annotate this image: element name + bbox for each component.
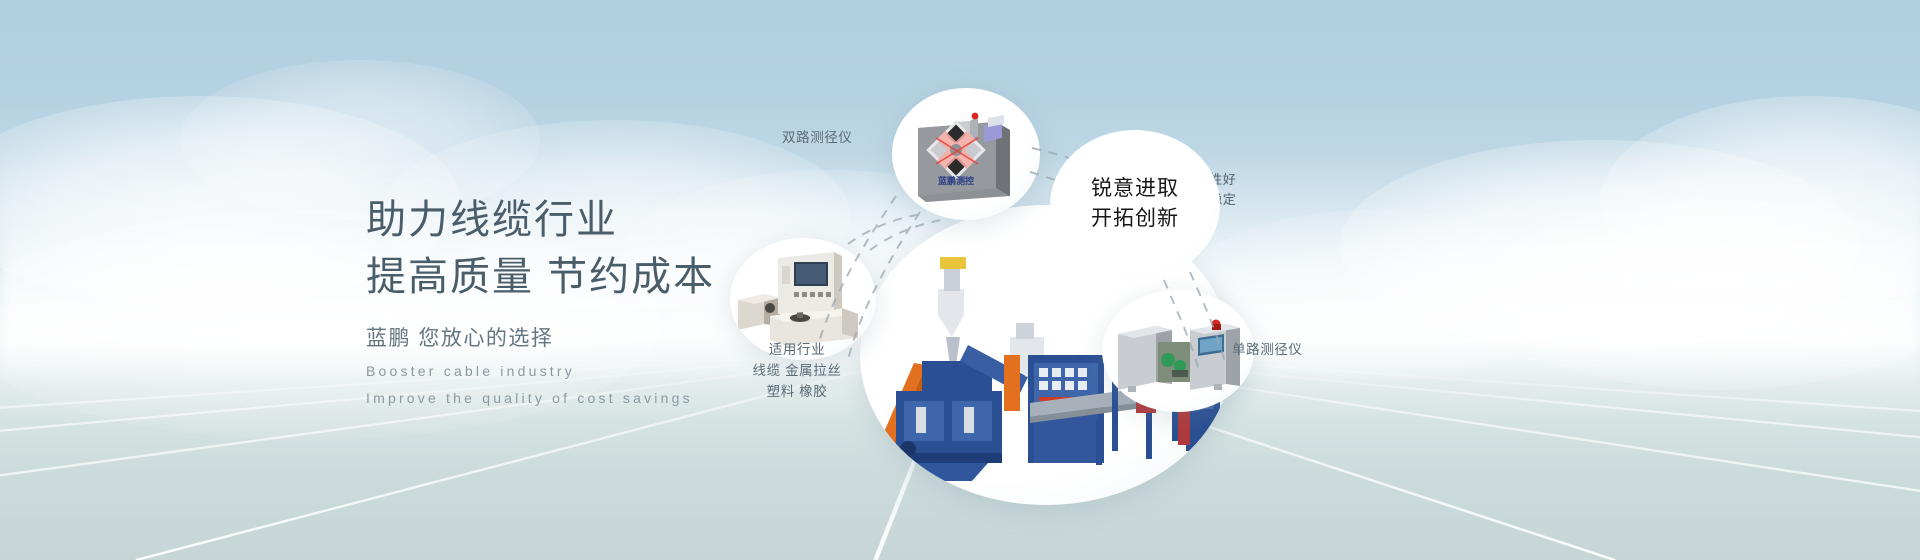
- slogan-line-2: 开拓创新: [1050, 204, 1220, 234]
- industry-title: 适用行业: [722, 340, 872, 361]
- slogan-line-1: 锐意进取: [1050, 174, 1220, 204]
- slogan-text-group: 锐意进取 开拓创新: [1050, 174, 1220, 235]
- industry-line-1: 线缆 金属拉丝: [722, 361, 872, 382]
- product-composition: 蓝鹏测控: [720, 0, 1920, 560]
- device-brand-text: 蓝鹏测控: [938, 175, 974, 186]
- industry-line-2: 塑料 橡胶: [722, 382, 872, 403]
- bubble-slogan: 锐意进取 开拓创新: [1050, 130, 1220, 280]
- marketing-banner: 助力线缆行业 提高质量 节约成本 蓝鹏 您放心的选择 Booster cable…: [0, 0, 1920, 560]
- bubble-dual-gauge[interactable]: 蓝鹏测控: [892, 88, 1040, 220]
- label-dual-gauge: 双路测径仪: [782, 128, 853, 149]
- label-applicable-industry: 适用行业 线缆 金属拉丝 塑料 橡胶: [722, 340, 872, 403]
- label-single-gauge: 单路测径仪: [1232, 340, 1303, 361]
- dual-gauge-device-illustration: 蓝鹏测控: [892, 88, 1040, 220]
